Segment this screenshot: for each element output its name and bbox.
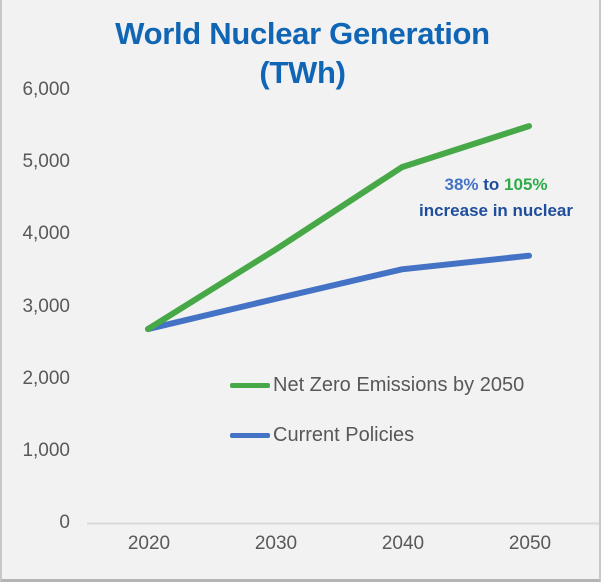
- annotation-to-word: to: [483, 175, 499, 194]
- chart-card: World Nuclear Generation (TWh) 6,000 5,0…: [0, 0, 601, 582]
- y-axis-tick-6000: 6,000: [0, 79, 70, 101]
- y-axis-tick-4000: 4,000: [0, 223, 70, 245]
- legend-swatch-blue-icon: [230, 433, 270, 438]
- y-axis-tick-3000: 3,000: [0, 296, 70, 318]
- x-axis-tick-2020: 2020: [104, 533, 194, 555]
- annotation-increase-low: 38%: [444, 175, 478, 194]
- legend-item-net-zero-emissions[interactable]: Net Zero Emissions by 2050: [230, 374, 524, 397]
- legend-item-current-policies[interactable]: Current Policies: [230, 424, 414, 447]
- x-axis-tick-2030: 2030: [231, 533, 321, 555]
- x-axis-tick-2040: 2040: [358, 533, 448, 555]
- legend-label-current-policies: Current Policies: [273, 424, 414, 447]
- annotation-subject: increase in nuclear: [390, 198, 601, 224]
- y-axis-tick-2000: 2,000: [0, 368, 70, 390]
- annotation-increase-high: 105%: [504, 175, 547, 194]
- plot-area: [2, 0, 601, 582]
- y-axis-tick-0: 0: [0, 512, 70, 534]
- y-axis-tick-1000: 1,000: [0, 440, 70, 462]
- legend-label-net-zero-emissions: Net Zero Emissions by 2050: [273, 374, 524, 397]
- y-axis-tick-5000: 5,000: [0, 151, 70, 173]
- plot-svg: [2, 0, 601, 582]
- line-series-net-zero-emissions: [148, 126, 529, 329]
- legend-swatch-green-icon: [230, 383, 270, 388]
- chart-annotation: 38% to 105% increase in nuclear: [390, 172, 601, 225]
- x-axis-tick-2050: 2050: [485, 533, 575, 555]
